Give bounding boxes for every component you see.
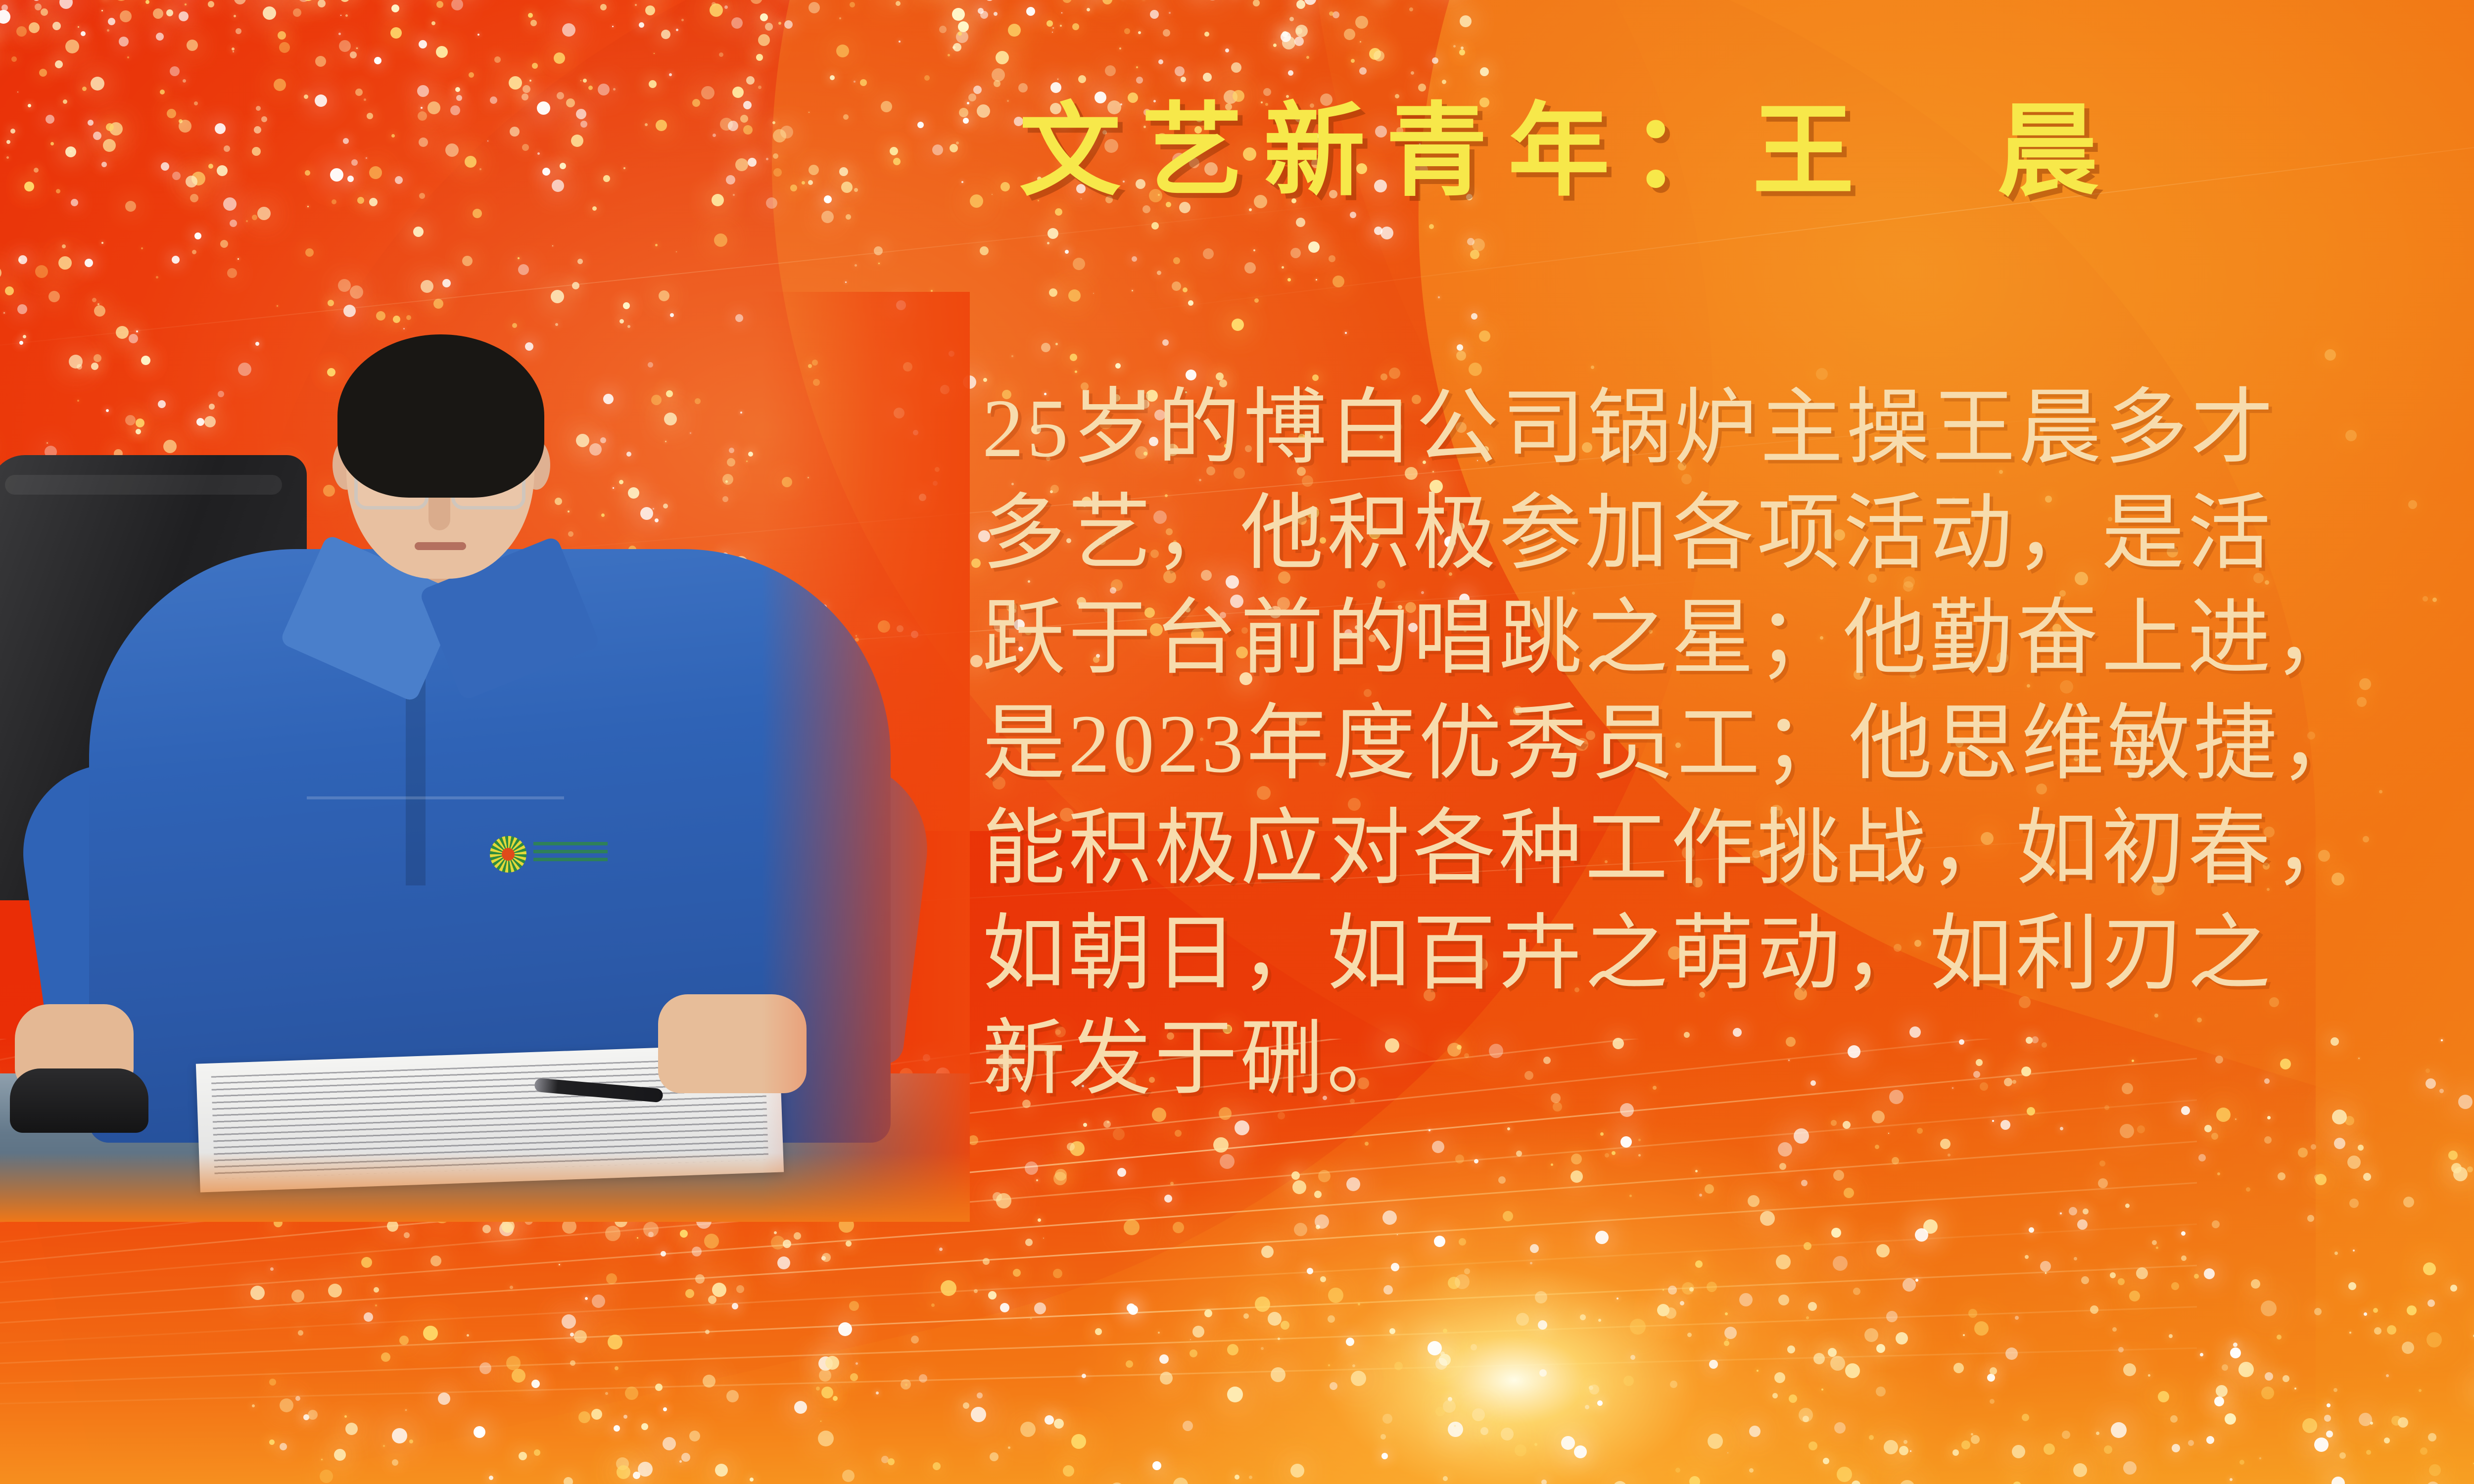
computer-mouse-icon xyxy=(10,1068,148,1133)
body-line: 能积极应对各种工作挑战，如初春， xyxy=(982,796,2474,902)
body-line: 新发于硎。 xyxy=(982,1007,2474,1112)
hair xyxy=(337,334,544,498)
uniform-logo-text xyxy=(533,842,608,865)
uniform-pocket xyxy=(307,796,564,895)
mouth xyxy=(415,542,466,550)
page-title: 文艺新青年：王 晨 xyxy=(1019,101,2474,203)
body-paragraph: 25岁的博白公司锅炉主操王晨多才多艺，他积极参加各项活动，是活跃于台前的唱跳之星… xyxy=(982,376,2474,1112)
body-line: 跃于台前的唱跳之星；他勤奋上进， xyxy=(982,586,2474,692)
poster-banner: 文艺新青年：王 晨 25岁的博白公司锅炉主操王晨多才多艺，他积极参加各项活动，是… xyxy=(0,0,2474,1484)
body-line: 是2023年度优秀员工；他思维敏捷， xyxy=(982,692,2474,797)
body-line: 25岁的博白公司锅炉主操王晨多才 xyxy=(982,376,2474,481)
portrait-photo xyxy=(0,292,970,1222)
body-line: 如朝日，如百卉之萌动，如利刃之 xyxy=(982,902,2474,1007)
photo-edge-fade-right xyxy=(762,292,970,1222)
photo-edge-fade-bottom xyxy=(0,1153,970,1222)
body-line: 多艺，他积极参加各项活动，是活 xyxy=(982,481,2474,587)
uniform-logo-icon xyxy=(490,836,526,873)
